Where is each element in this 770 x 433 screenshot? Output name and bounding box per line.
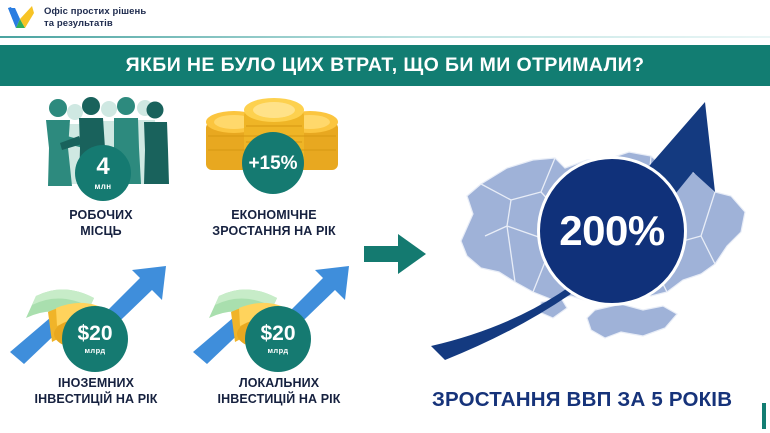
gdp-growth-value: 200%: [559, 207, 664, 255]
header-divider: [0, 36, 770, 38]
stat-foreign-value: $20: [77, 323, 112, 344]
stat-growth: +15% ЕКОНОМІЧНЕ ЗРОСТАННЯ НА РІК: [178, 92, 370, 239]
stat-jobs-badge: 4 млн: [75, 145, 131, 201]
stat-jobs-unit: млн: [94, 183, 111, 191]
checkmark-logo-icon: [8, 6, 34, 30]
stat-local-unit: млрд: [267, 347, 288, 355]
stat-growth-value: +15%: [248, 154, 297, 173]
stat-local-value: $20: [260, 323, 295, 344]
infographic-page: Офіс простих рішень та результатів ЯКБИ …: [0, 0, 770, 433]
stat-jobs-value: 4: [96, 155, 109, 179]
corner-accent-mark: [762, 403, 766, 429]
stat-local-label: ЛОКАЛЬНИХ ІНВЕСТИЦІЙ НА РІК: [183, 376, 375, 407]
org-name: Офіс простих рішень та результатів: [44, 6, 146, 30]
page-title: ЯКБИ НЕ БУЛО ЦИХ ВТРАТ, ЩО БИ МИ ОТРИМАЛ…: [126, 54, 645, 77]
stat-growth-badge: +15%: [242, 132, 304, 194]
stat-local-investment: $20 млрд ЛОКАЛЬНИХ ІНВЕСТИЦІЙ НА РІК: [183, 260, 375, 407]
title-banner: ЯКБИ НЕ БУЛО ЦИХ ВТРАТ, ЩО БИ МИ ОТРИМАЛ…: [0, 45, 770, 86]
stat-jobs: 4 млн РОБОЧИХ МІСЦЬ: [5, 92, 197, 239]
stat-foreign-unit: млрд: [84, 347, 105, 355]
page-header: Офіс простих рішень та результатів: [0, 0, 770, 36]
result-caption: ЗРОСТАННЯ ВВП ЗА 5 РОКІВ: [432, 388, 762, 412]
stat-foreign-label: ІНОЗЕМНИХ ІНВЕСТИЦІЙ НА РІК: [0, 376, 192, 407]
stat-foreign-investment: $20 млрд ІНОЗЕМНИХ ІНВЕСТИЦІЙ НА РІК: [0, 260, 192, 407]
stat-growth-label: ЕКОНОМІЧНЕ ЗРОСТАННЯ НА РІК: [178, 208, 370, 239]
stat-jobs-label: РОБОЧИХ МІСЦЬ: [5, 208, 197, 239]
stats-grid: 4 млн РОБОЧИХ МІСЦЬ: [0, 92, 385, 428]
gdp-growth-circle: 200%: [537, 156, 687, 306]
stat-local-badge: $20 млрд: [245, 306, 311, 372]
stat-foreign-badge: $20 млрд: [62, 306, 128, 372]
result-panel: 200%: [415, 96, 770, 386]
